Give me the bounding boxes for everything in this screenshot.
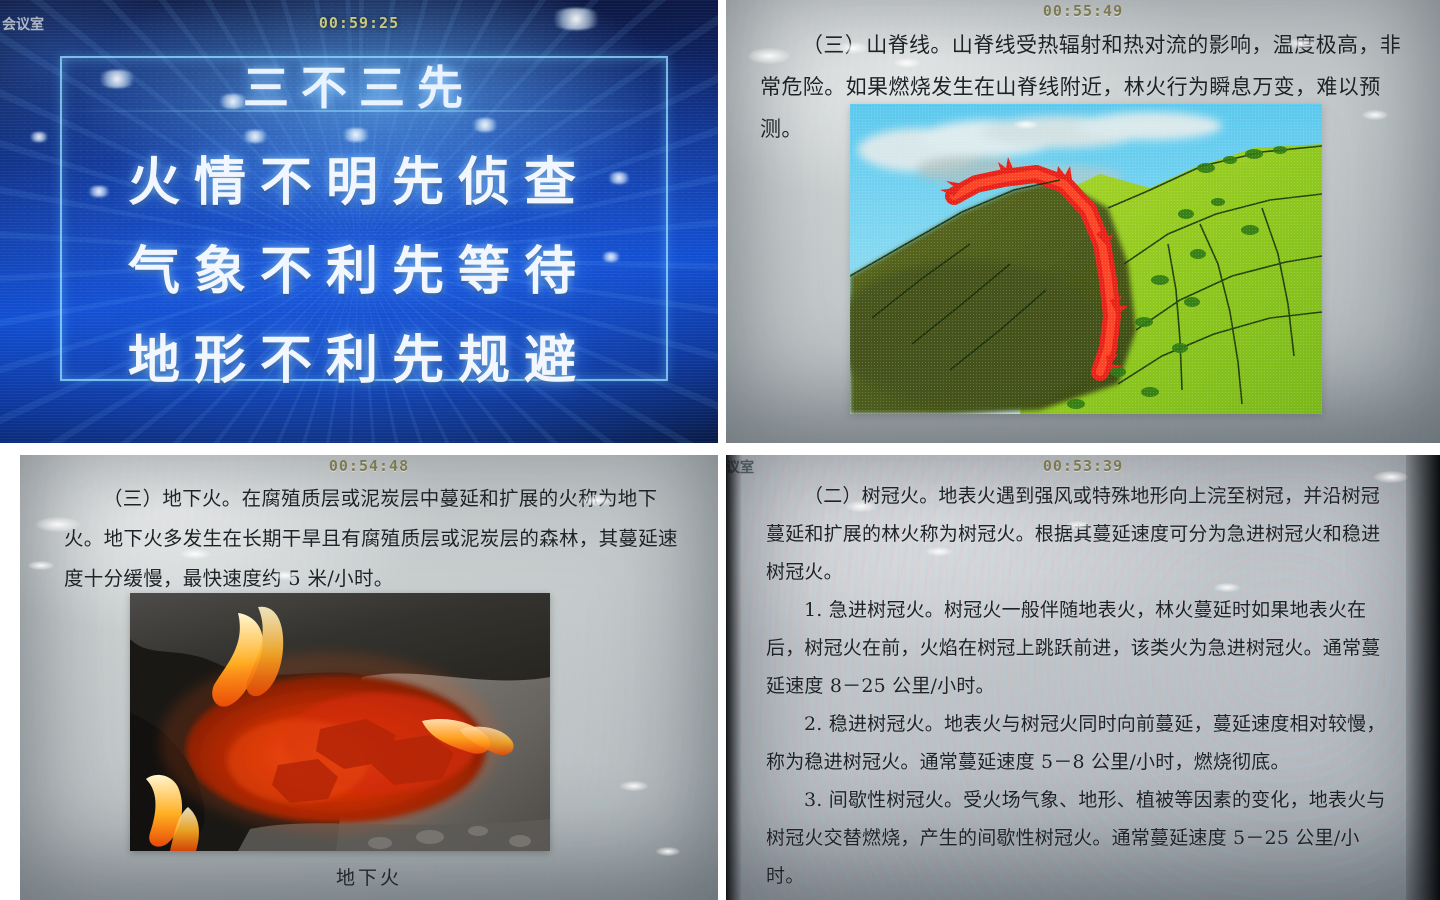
screenshot-grid: 三不三先 火情不明先侦查 气象不利先等待 地形不利先规避 会议室 00:59:2…: [0, 0, 1440, 900]
paragraph: 2. 稳进树冠火。地表火与树冠火同时向前蔓延，蔓延速度相对较慢，称为稳进树冠火。…: [766, 705, 1392, 781]
panel-bottom-right[interactable]: （二）树冠火。地表火遇到强风或特殊地形向上浣至树冠，并沿树冠蔓延和扩展的林火称为…: [726, 455, 1440, 900]
paragraph: （三）山脊线。山脊线受热辐射和热对流的影响，温度极高，非常危险。如果燃烧发生在山…: [760, 24, 1416, 150]
timestamp-overlay: 00:54:48: [20, 457, 718, 475]
panel-top-left[interactable]: 三不三先 火情不明先侦查 气象不利先等待 地形不利先规避 会议室 00:59:2…: [0, 0, 718, 443]
document-body: （三）山脊线。山脊线受热辐射和热对流的影响，温度极高，非常危险。如果燃烧发生在山…: [760, 24, 1416, 150]
paragraph: 1. 急进树冠火。树冠火一般伴随地表火，林火蔓延时如果地表火在后，树冠火在前，火…: [766, 591, 1392, 705]
slide-line-3: 地形不利先规避: [128, 318, 590, 393]
paragraph: （二）树冠火。地表火遇到强风或特殊地形向上浣至树冠，并沿树冠蔓延和扩展的林火称为…: [766, 477, 1392, 591]
underground-fire-photo: [130, 593, 550, 851]
timestamp-overlay: 00:53:39: [726, 457, 1440, 475]
figure-caption: 地下火: [20, 863, 718, 890]
panel-top-right[interactable]: （三）山脊线。山脊线受热辐射和热对流的影响，温度极高，非常危险。如果燃烧发生在山…: [726, 0, 1440, 443]
timestamp-overlay: 00:55:49: [726, 2, 1440, 20]
slide-bullet-list: 火情不明先侦查 气象不利先等待 地形不利先规避: [0, 140, 718, 393]
panel-bottom-left[interactable]: （三）地下火。在腐殖质层或泥炭层中蔓延和扩展的火称为地下火。地下火多发生在长期干…: [20, 455, 718, 900]
document-body: （二）树冠火。地表火遇到强风或特殊地形向上浣至树冠，并沿树冠蔓延和扩展的林火称为…: [766, 477, 1392, 895]
slide-line-2: 气象不利先等待: [128, 229, 590, 304]
timestamp-overlay: 00:59:25: [0, 14, 718, 32]
paragraph: （三）地下火。在腐殖质层或泥炭层中蔓延和扩展的火称为地下火。地下火多发生在长期干…: [64, 479, 680, 599]
document-body: （三）地下火。在腐殖质层或泥炭层中蔓延和扩展的火称为地下火。地下火多发生在长期干…: [64, 479, 680, 599]
ridge-line-fire-illustration: [850, 104, 1322, 414]
paragraph: 3. 间歇性树冠火。受火场气象、地形、植被等因素的变化，地表火与树冠火交替燃烧，…: [766, 781, 1392, 895]
slide-title: 三不三先: [0, 52, 718, 118]
slide-line-1: 火情不明先侦查: [128, 140, 590, 215]
